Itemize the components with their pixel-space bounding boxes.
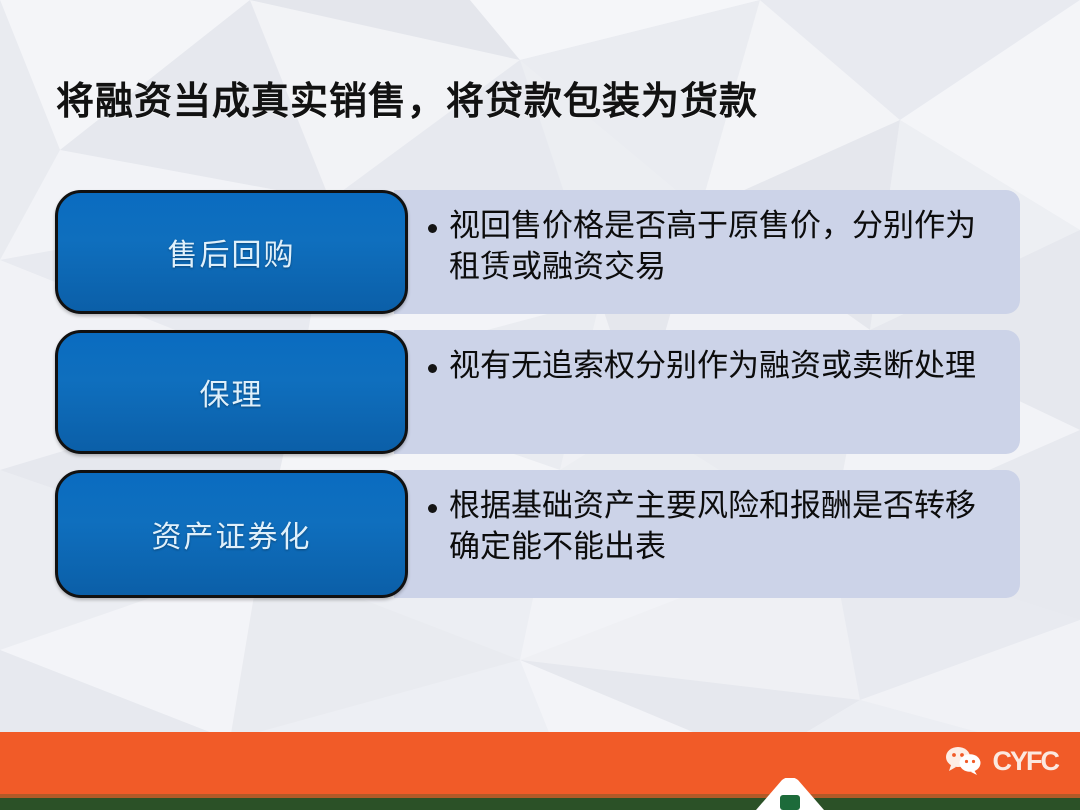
description-text: 根据基础资产主要风险和报酬是否转移确定能不能出表 <box>449 486 1002 568</box>
footer-brand[interactable]: CYFC <box>944 744 1059 778</box>
description-text: 视有无追索权分别作为融资或卖断处理 <box>449 346 976 387</box>
description-text: 视回售价格是否高于原售价，分别作为租赁或融资交易 <box>449 206 1002 288</box>
wechat-icon <box>944 746 984 776</box>
category-pill-securitization[interactable]: 资产证券化 <box>55 470 408 598</box>
description-panel: 根据基础资产主要风险和报酬是否转移确定能不能出表 <box>394 470 1020 598</box>
slide-canvas: 将融资当成真实销售，将贷款包装为货款 售后回购 视回售价格是否高于原售价，分别作… <box>0 0 1080 810</box>
bullet-point-icon <box>428 504 437 513</box>
table-row: 保理 视有无追索权分别作为融资或卖断处理 <box>55 330 1020 454</box>
table-row: 售后回购 视回售价格是否高于原售价，分别作为租赁或融资交易 <box>55 190 1020 314</box>
category-pill-label: 资产证券化 <box>152 512 312 556</box>
table-row: 资产证券化 根据基础资产主要风险和报酬是否转移确定能不能出表 <box>55 470 1020 598</box>
page-title: 将融资当成真实销售，将贷款包装为货款 <box>56 70 758 125</box>
footer-bar <box>0 732 1080 794</box>
description-panel: 视回售价格是否高于原售价，分别作为租赁或融资交易 <box>394 190 1020 314</box>
category-pill-label: 售后回购 <box>168 230 296 274</box>
category-pill-factoring[interactable]: 保理 <box>55 330 408 454</box>
brand-text: CYFC <box>993 746 1059 777</box>
description-panel: 视有无追索权分别作为融资或卖断处理 <box>394 330 1020 454</box>
category-pill-sale-repurchase[interactable]: 售后回购 <box>55 190 408 314</box>
arch-marker-icon <box>742 778 838 810</box>
bullet-point-icon <box>428 224 437 233</box>
bullet-point-icon <box>428 364 437 373</box>
category-pill-label: 保理 <box>200 370 264 414</box>
